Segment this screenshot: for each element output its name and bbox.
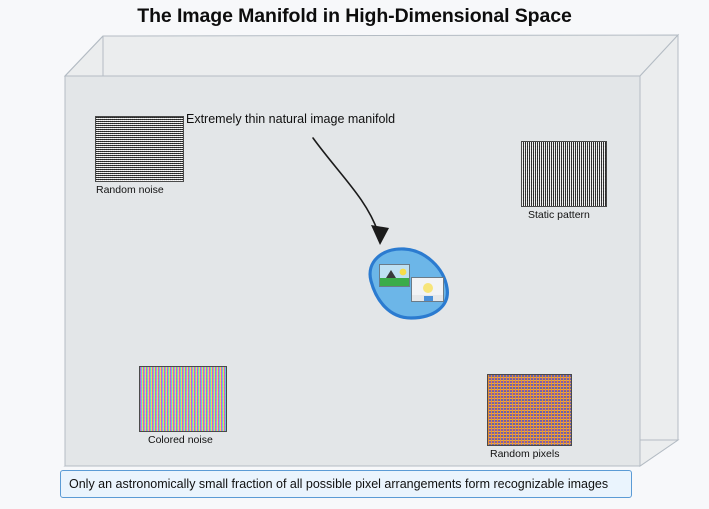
patch-static-pattern	[521, 141, 607, 207]
box-top-face	[65, 35, 678, 76]
manifold-annotation-label: Extremely thin natural image manifold	[186, 112, 395, 126]
landscape-thumbnail-art	[380, 265, 410, 287]
patch-label-static-pattern: Static pattern	[528, 209, 590, 221]
house-thumbnail	[411, 277, 444, 302]
diagram-stage	[0, 0, 709, 509]
box-right-face	[640, 35, 678, 466]
figure-root: The Image Manifold in High-Dimensional S…	[0, 0, 709, 509]
caption-box: Only an astronomically small fraction of…	[60, 470, 632, 498]
caption-text: Only an astronomically small fraction of…	[69, 477, 608, 491]
patch-random-pixels	[487, 374, 572, 446]
patch-label-random-pixels: Random pixels	[490, 448, 559, 460]
patch-colored-noise	[139, 366, 227, 432]
patch-random-noise	[95, 116, 184, 182]
patch-label-colored-noise: Colored noise	[148, 434, 213, 446]
house-thumbnail-art	[412, 278, 444, 302]
patch-label-random-noise: Random noise	[96, 184, 164, 196]
landscape-thumbnail	[379, 264, 410, 287]
